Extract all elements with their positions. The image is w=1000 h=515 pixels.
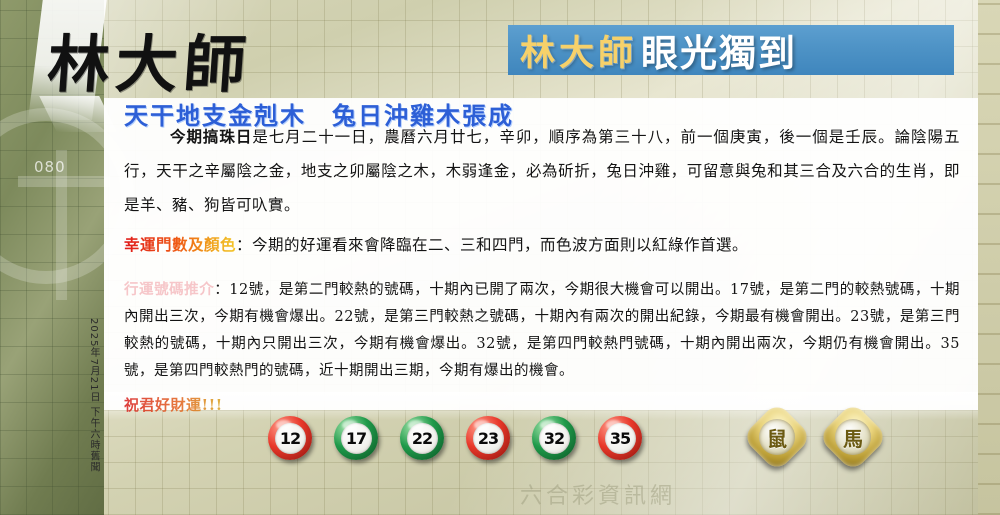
ball-gloss: [408, 420, 424, 430]
right-decorative-edge: [978, 0, 1000, 515]
ball-gloss: [474, 420, 490, 430]
banner-brand: 林大師: [520, 25, 637, 76]
zodiac-label: 馬: [843, 423, 863, 452]
article-paragraph-intro: 今期搞珠日是七月二十一日，農曆六月廿七，辛卯，順序為第三十八，前一個庚寅，後一個…: [124, 120, 960, 222]
article-paragraph-numbers: 行運號碼推介：12號，是第二門較熱的號碼，十期內已開了兩次，今期很大機會可以開出…: [124, 276, 960, 385]
ball-gloss: [606, 420, 622, 430]
article-paragraph-lucky: 幸運門數及顏色：今期的好運看來會降臨在二、三和四門，而色波方面則以紅綠作首選。: [124, 228, 960, 262]
ball-gloss: [342, 420, 358, 430]
lucky-gates-text: ：今期的好運看來會降臨在二、三和四門，而色波方面則以紅綠作首選。: [236, 236, 748, 254]
ball-gloss: [276, 420, 292, 430]
ball-number: 17: [346, 429, 366, 448]
zodiac-inner: 馬: [835, 419, 871, 455]
lottery-ball[interactable]: 17: [334, 416, 378, 460]
masthead-brand: 林大師: [45, 14, 255, 104]
vertical-date-label: 2025年7月21日 下午六時舊聞: [86, 318, 101, 498]
lottery-ball[interactable]: 12: [268, 416, 312, 460]
ball-gloss: [540, 420, 556, 430]
ball-number: 23: [478, 429, 498, 448]
ball-number: 35: [610, 429, 630, 448]
zodiac-label: 鼠: [767, 423, 787, 452]
lottery-ball[interactable]: 23: [466, 416, 510, 460]
banner-slogan: 眼光獨到: [641, 23, 797, 77]
zodiac-medallion[interactable]: 馬: [818, 402, 889, 473]
ball-number: 32: [544, 429, 564, 448]
page-root: 080 林大師 林大師 眼光獨到 天干地支金剋木 兔日沖雞木張成 今期搞珠日是七…: [0, 0, 1000, 515]
bottom-watermark: 六合彩資訊網: [520, 478, 980, 510]
zodiac-medallion[interactable]: 鼠: [742, 402, 813, 473]
issue-number: 080: [34, 158, 66, 176]
zodiac-picks-list: 鼠 馬: [752, 412, 878, 462]
zodiac-inner: 鼠: [759, 419, 795, 455]
lottery-ball[interactable]: 32: [532, 416, 576, 460]
number-picks-text: ：12號，是第二門較熱的號碼，十期內已開了兩次，今期很大機會可以開出。17號，是…: [124, 282, 960, 379]
lucky-gates-label: 幸運門數及顏色: [124, 235, 236, 254]
lottery-ball[interactable]: 22: [400, 416, 444, 460]
ball-number: 12: [280, 429, 300, 448]
ball-number: 22: [412, 429, 432, 448]
number-picks-label: 行運號碼推介: [124, 281, 214, 298]
paragraph-lead-label: 今期搞珠日: [170, 127, 252, 146]
lucky-numbers-list: 12 17 22 23 32: [268, 416, 642, 460]
lottery-ball[interactable]: 35: [598, 416, 642, 460]
slogan-banner: 林大師 眼光獨到: [508, 25, 954, 75]
wish-text: 祝君好財運!!!: [124, 396, 223, 414]
